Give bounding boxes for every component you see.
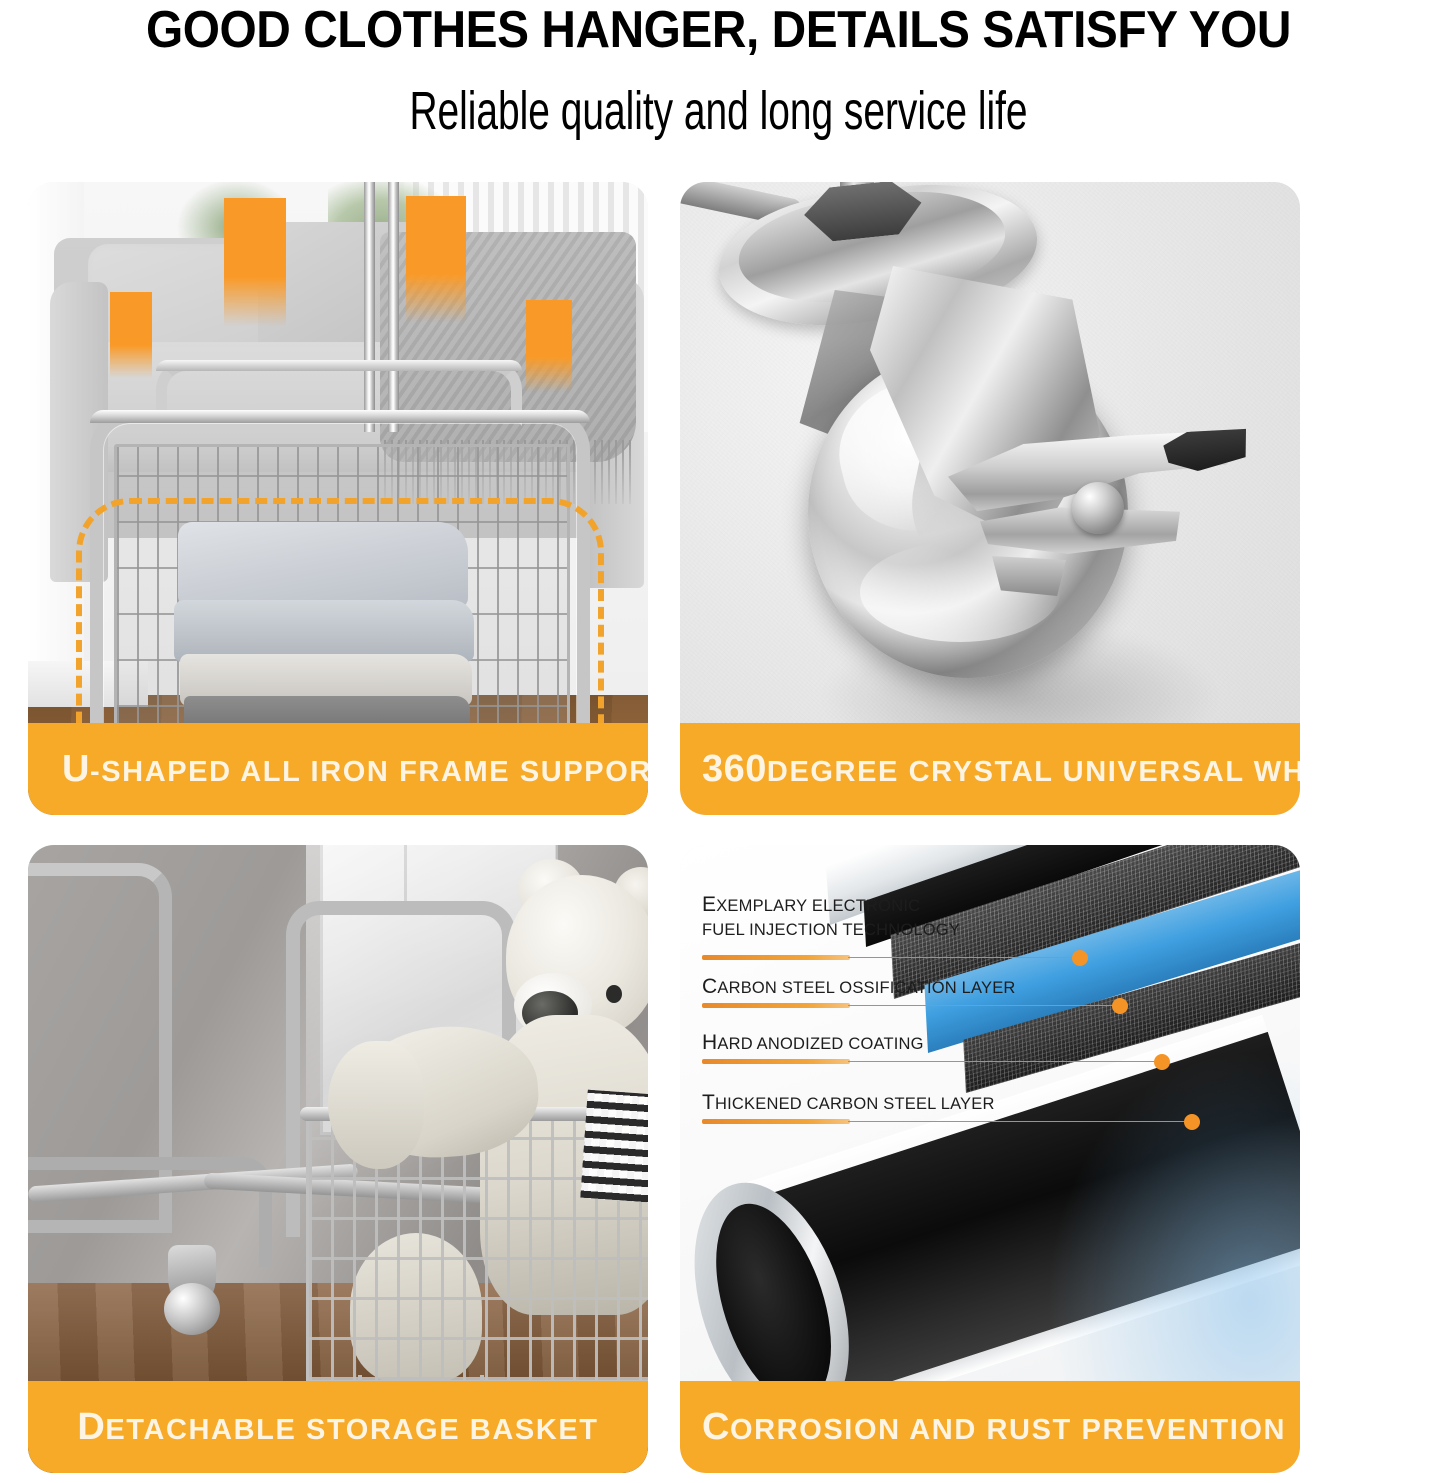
callout-3-dot xyxy=(1154,1054,1170,1070)
teddy-bear-paw xyxy=(328,1041,424,1169)
photo-pipe-cross-section: EXEMPLARY ELECTRONIC FUEL INJECTION TECH… xyxy=(680,845,1300,1473)
callout-4-dot xyxy=(1184,1114,1200,1130)
caption-rest-text: DEGREE CRYSTAL UNIVERSAL WHEEL BRAKE xyxy=(767,756,1300,789)
callout-1-dot xyxy=(1072,950,1088,966)
photo-storage-basket xyxy=(28,845,648,1473)
callout-2-lead: C xyxy=(702,975,717,998)
teddy-bear-checked-scarf xyxy=(580,1090,648,1204)
panel-u-shaped-frame[interactable]: U -SHAPED ALL IRON FRAME SUPPORT xyxy=(28,182,648,815)
caption-lead-char: U xyxy=(62,748,90,791)
caption-text-detachable-storage-basket: D ETACHABLE STORAGE BASKET xyxy=(77,1406,598,1449)
callout-2-dot xyxy=(1112,998,1128,1014)
callout-1-line1: XEMPLARY ELECTRONIC xyxy=(716,897,920,915)
callout-3-lead: H xyxy=(702,1031,717,1054)
caption-rest-text: ETACHABLE STORAGE BASKET xyxy=(105,1414,598,1447)
page-subtitle: Reliable quality and long service life xyxy=(201,80,1236,142)
callout-1-bar xyxy=(702,955,850,960)
callout-4-label: THICKENED CARBON STEEL LAYER xyxy=(702,1089,995,1117)
panel-corrosion-rust-prevention[interactable]: EXEMPLARY ELECTRONIC FUEL INJECTION TECH… xyxy=(680,845,1300,1473)
callout-2-line xyxy=(848,1005,1118,1006)
callout-4-line xyxy=(848,1121,1188,1122)
caption-lead-char: D xyxy=(77,1406,105,1449)
page-title: GOOD CLOTHES HANGER, DETAILS SATISFY YOU xyxy=(57,2,1379,58)
callout-2-bar xyxy=(702,1003,850,1008)
caption-text-universal-wheel-brake: 360 DEGREE CRYSTAL UNIVERSAL WHEEL BRAKE xyxy=(702,748,1300,791)
callout-3-line1: ARD ANODIZED COATING xyxy=(717,1035,923,1053)
caption-bar-detachable-storage-basket: D ETACHABLE STORAGE BASKET xyxy=(28,1381,648,1473)
caster-wheel xyxy=(164,1283,220,1335)
callout-4-line1: HICKENED CARBON STEEL LAYER xyxy=(715,1095,995,1113)
up-arrow-icon-1 xyxy=(110,292,152,378)
up-arrow-icon-3 xyxy=(406,196,466,322)
callout-1-line xyxy=(848,957,1078,958)
callout-1-line2: FUEL INJECTION TECHNOLOGY xyxy=(702,921,960,939)
callout-3-bar xyxy=(702,1059,850,1064)
caption-lead-char: 360 xyxy=(702,748,767,791)
brake-notch xyxy=(992,556,1066,596)
brake-pivot-bolt xyxy=(1072,482,1124,534)
callout-1-lead: E xyxy=(702,893,716,916)
callout-2-label: CARBON STEEL OSSIFICATION LAYER xyxy=(702,973,1016,1001)
panel-detachable-storage-basket[interactable]: D ETACHABLE STORAGE BASKET xyxy=(28,845,648,1473)
caption-text-u-shaped-frame: U -SHAPED ALL IRON FRAME SUPPORT xyxy=(62,748,648,791)
callout-3-line xyxy=(848,1061,1158,1062)
feature-panel-grid: U -SHAPED ALL IRON FRAME SUPPORT xyxy=(28,182,1300,1474)
callout-4-lead: T xyxy=(702,1091,715,1114)
up-arrow-icon-4 xyxy=(526,300,572,392)
callout-2-line1: ARBON STEEL OSSIFICATION LAYER xyxy=(717,979,1015,997)
photo-u-shaped-frame xyxy=(28,182,648,815)
callout-2: CARBON STEEL OSSIFICATION LAYER xyxy=(702,973,1016,1001)
panel-universal-wheel-brake[interactable]: 360 DEGREE CRYSTAL UNIVERSAL WHEEL BRAKE xyxy=(680,182,1300,815)
caption-bar-universal-wheel-brake: 360 DEGREE CRYSTAL UNIVERSAL WHEEL BRAKE xyxy=(680,723,1300,815)
photo-caster-wheel xyxy=(680,182,1300,815)
callout-1: EXEMPLARY ELECTRONIC FUEL INJECTION TECH… xyxy=(702,891,960,942)
page-header: GOOD CLOTHES HANGER, DETAILS SATISFY YOU… xyxy=(0,0,1437,142)
callout-4: THICKENED CARBON STEEL LAYER xyxy=(702,1089,995,1117)
callout-3: HARD ANODIZED COATING xyxy=(702,1029,924,1057)
teddy-bear-eye xyxy=(606,985,622,1003)
caption-rest-text: -SHAPED ALL IRON FRAME SUPPORT xyxy=(90,756,648,789)
callout-3-label: HARD ANODIZED COATING xyxy=(702,1029,924,1057)
callout-1-label: EXEMPLARY ELECTRONIC FUEL INJECTION TECH… xyxy=(702,891,960,942)
caption-bar-u-shaped-frame: U -SHAPED ALL IRON FRAME SUPPORT xyxy=(28,723,648,815)
up-arrow-icon-2 xyxy=(224,198,286,326)
callout-4-bar xyxy=(702,1119,850,1124)
callout-group: EXEMPLARY ELECTRONIC FUEL INJECTION TECH… xyxy=(680,845,1300,1473)
